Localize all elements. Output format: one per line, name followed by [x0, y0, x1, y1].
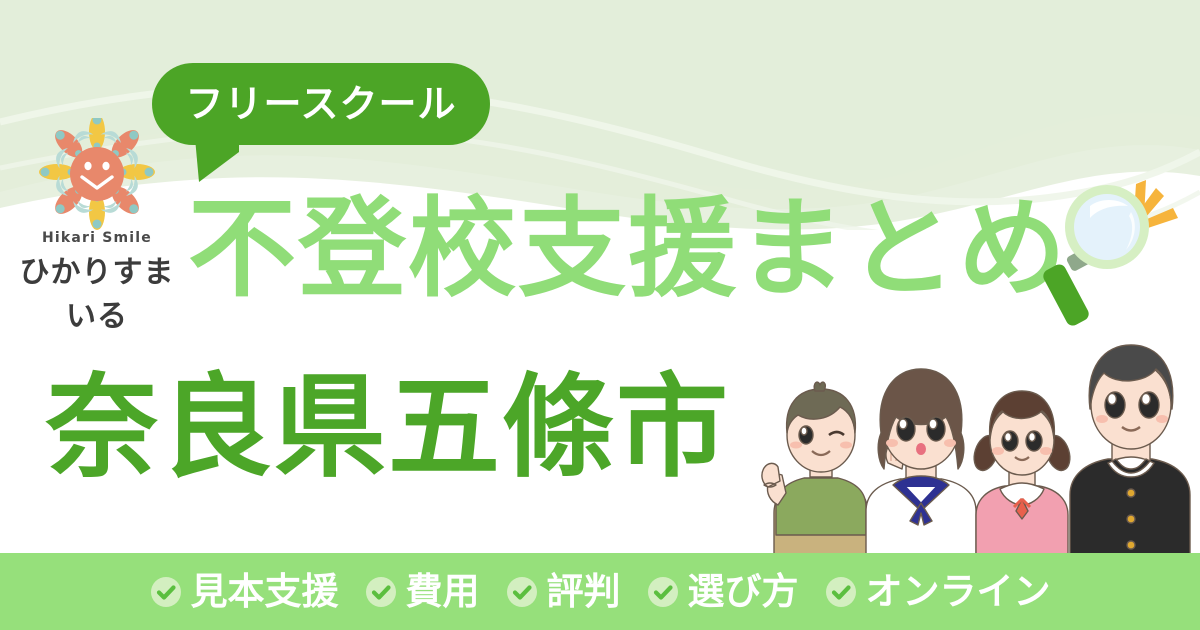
feature-tag-label: 評判 [547, 573, 621, 610]
student-boy-gakuran [1070, 345, 1190, 555]
check-circle-icon [150, 576, 182, 608]
student-girl-pink [970, 391, 1074, 555]
check-circle-icon [647, 576, 679, 608]
feature-tag-1[interactable]: 費用 [365, 573, 480, 610]
headline-primary: 不登校支援まとめ [188, 196, 1068, 304]
logo-english-name: Hikari Smile [8, 230, 186, 246]
student-girl-sailor [866, 369, 976, 555]
site-logo[interactable]: Hikari Smile ひかりすまいる [8, 118, 186, 284]
feature-tag-label: 費用 [406, 573, 480, 610]
banner-canvas: フリースクール [0, 0, 1200, 630]
feature-tag-label: オンライン [866, 573, 1051, 610]
feature-tag-label: 選び方 [688, 573, 799, 610]
feature-tag-label: 見本支援 [191, 573, 339, 610]
students-illustration [760, 335, 1200, 560]
check-circle-icon [825, 576, 857, 608]
student-boy-thumbs-up [762, 382, 868, 555]
magnifier-handle [1041, 262, 1091, 327]
feature-tag-bar: 見本支援 費用 評判 選び方 [0, 553, 1200, 630]
magnifying-glass-icon [1030, 172, 1190, 327]
check-circle-icon [365, 576, 397, 608]
logo-japanese-name: ひかりすまいる [8, 247, 186, 335]
feature-tag-0[interactable]: 見本支援 [150, 573, 339, 610]
feature-tag-3[interactable]: 選び方 [647, 573, 799, 610]
free-school-badge[interactable]: フリースクール [152, 63, 490, 145]
headline-secondary: 奈良県五條市 [46, 372, 730, 484]
free-school-badge-label: フリースクール [185, 85, 456, 123]
sun-smile-mandala-icon [8, 118, 186, 230]
feature-tag-4[interactable]: オンライン [825, 573, 1051, 610]
feature-tag-2[interactable]: 評判 [506, 573, 621, 610]
check-circle-icon [506, 576, 538, 608]
